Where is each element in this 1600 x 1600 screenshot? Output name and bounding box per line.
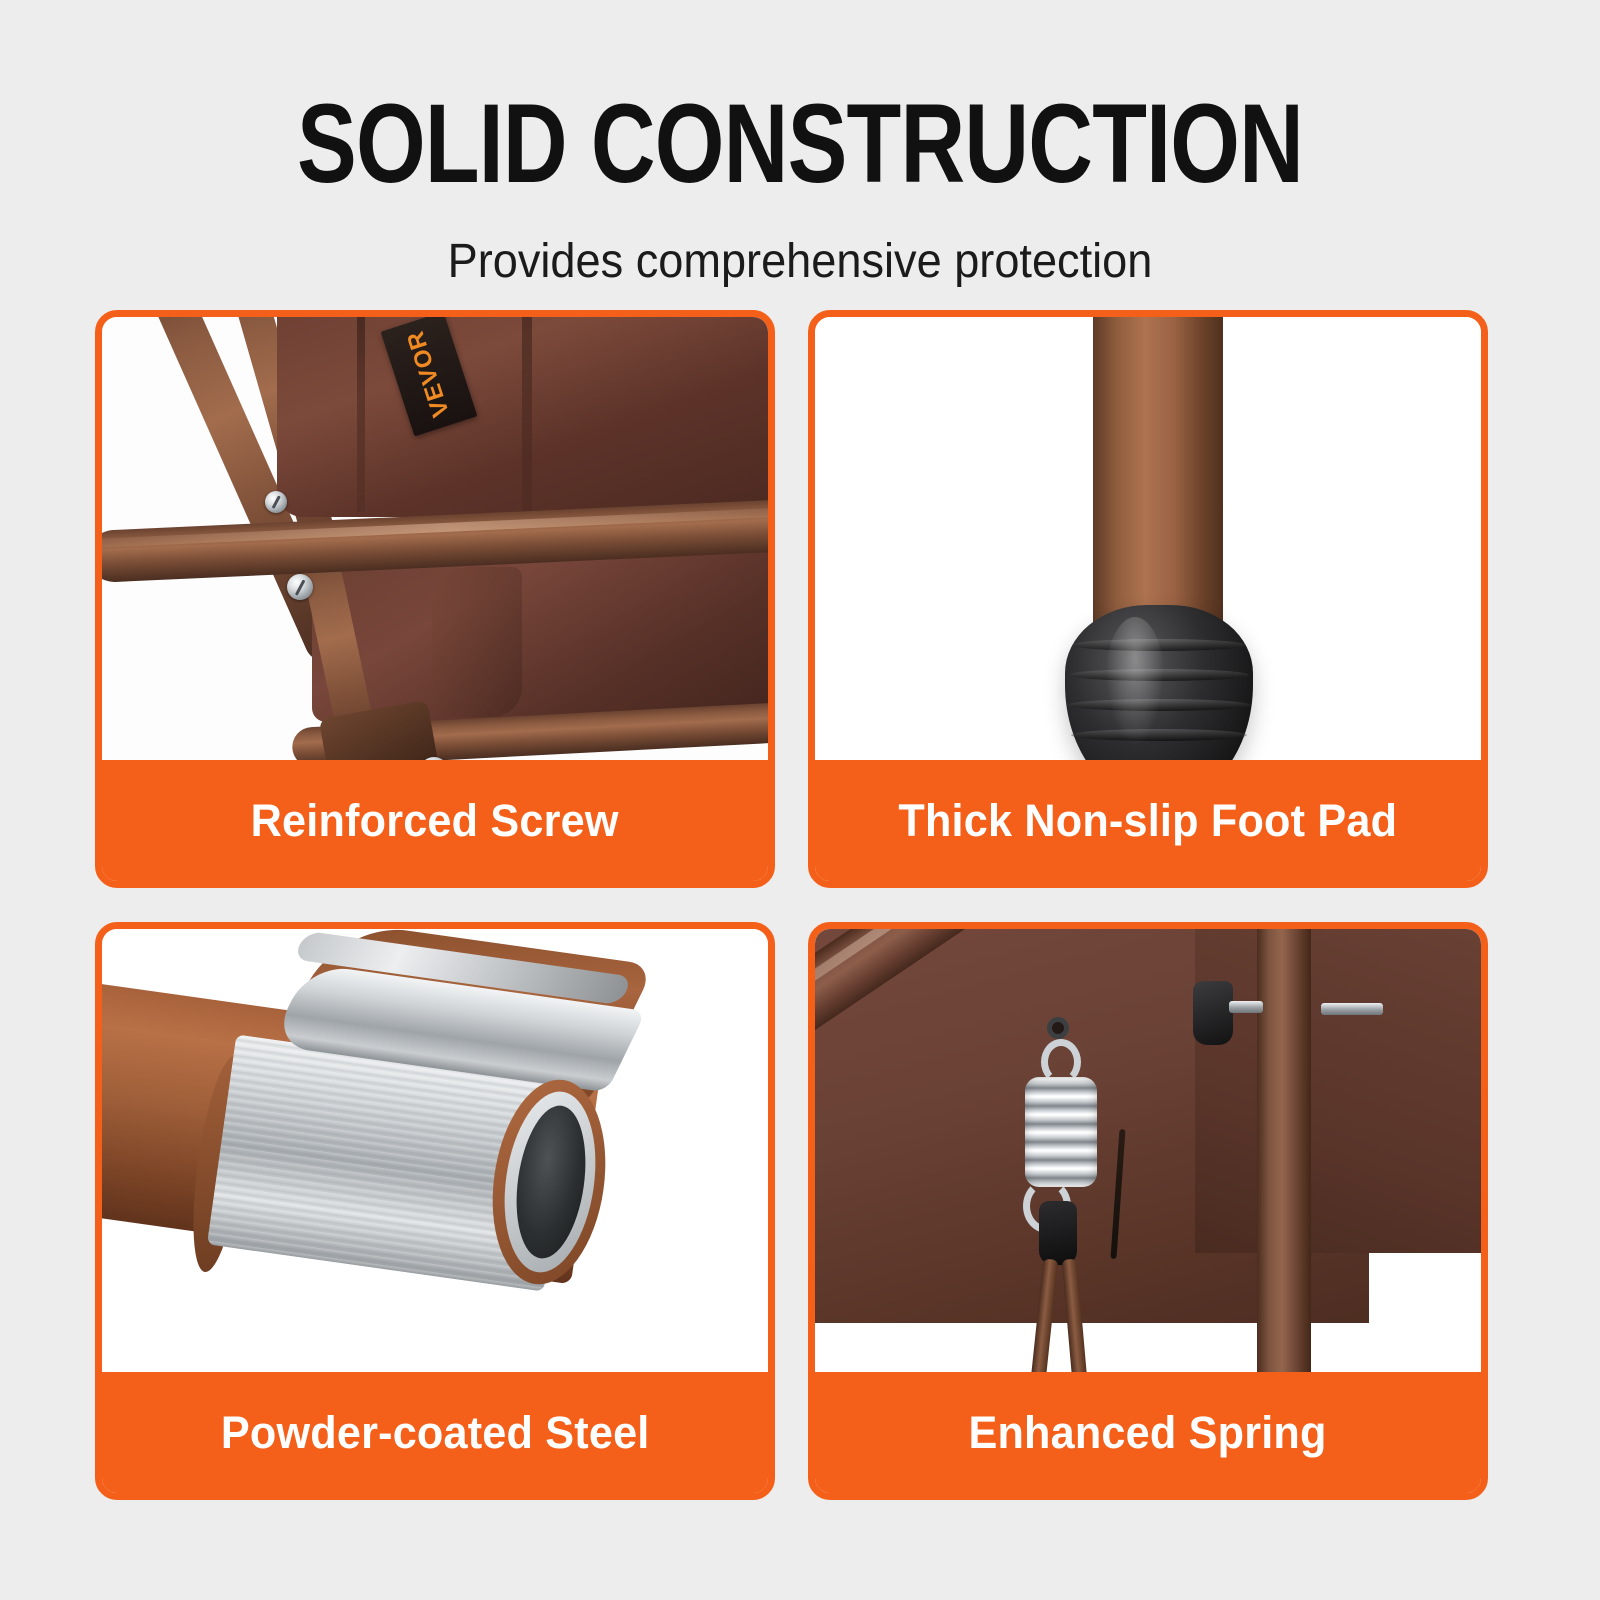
chair-leg-tube-icon bbox=[1093, 317, 1223, 637]
cushion-seam-right bbox=[522, 317, 532, 512]
cushion-seam-left bbox=[357, 317, 365, 512]
coil-spring-icon bbox=[1025, 1077, 1097, 1187]
feature-card-foot-pad[interactable]: Thick Non-slip Foot Pad bbox=[808, 310, 1488, 888]
foot-pad-highlight bbox=[1105, 617, 1165, 747]
canopy-fabric-right bbox=[1195, 929, 1481, 1253]
feature-card-powder-coated-steel[interactable]: Powder-coated Steel bbox=[95, 922, 775, 1500]
beam-eyelet-icon bbox=[1047, 1017, 1069, 1039]
powder-coated-steel-photo bbox=[102, 929, 768, 1381]
card-label-powder-coated-steel: Powder-coated Steel bbox=[221, 1407, 650, 1459]
screw-icon bbox=[287, 574, 313, 600]
card-label-enhanced-spring: Enhanced Spring bbox=[969, 1407, 1327, 1459]
foot-pad-ridge bbox=[1071, 729, 1247, 741]
feature-card-reinforced-screw[interactable]: VEVOR Reinforced Screw bbox=[95, 310, 775, 888]
bolt-icon bbox=[1321, 1003, 1383, 1015]
card-label-band: Reinforced Screw bbox=[101, 760, 769, 882]
feature-card-grid: VEVOR Reinforced Screw bbox=[95, 310, 1505, 1500]
support-post-icon bbox=[1257, 929, 1311, 1381]
thumb-knob-icon bbox=[1193, 981, 1233, 1045]
card-label-band: Enhanced Spring bbox=[814, 1372, 1482, 1494]
card-label-reinforced-screw: Reinforced Screw bbox=[251, 795, 619, 847]
strap-clip-icon bbox=[1039, 1201, 1077, 1265]
card-label-band: Powder-coated Steel bbox=[101, 1372, 769, 1494]
feature-card-enhanced-spring[interactable]: Enhanced Spring bbox=[808, 922, 1488, 1500]
page-title: SOLID CONSTRUCTION bbox=[160, 88, 1440, 200]
foot-pad-photo bbox=[815, 317, 1481, 769]
cushion-fold bbox=[432, 567, 522, 717]
page-subtitle: Provides comprehensive protection bbox=[48, 234, 1552, 289]
card-label-foot-pad: Thick Non-slip Foot Pad bbox=[899, 795, 1398, 847]
enhanced-spring-photo bbox=[815, 929, 1481, 1381]
brand-tag-label: VEVOR bbox=[402, 327, 456, 420]
header: SOLID CONSTRUCTION Provides comprehensiv… bbox=[0, 0, 1600, 289]
knob-bolt-icon bbox=[1229, 1001, 1263, 1013]
screw-icon bbox=[265, 491, 287, 513]
reinforced-screw-photo: VEVOR bbox=[102, 317, 768, 769]
infographic-page: SOLID CONSTRUCTION Provides comprehensiv… bbox=[0, 0, 1600, 1600]
card-label-band: Thick Non-slip Foot Pad bbox=[814, 760, 1482, 882]
